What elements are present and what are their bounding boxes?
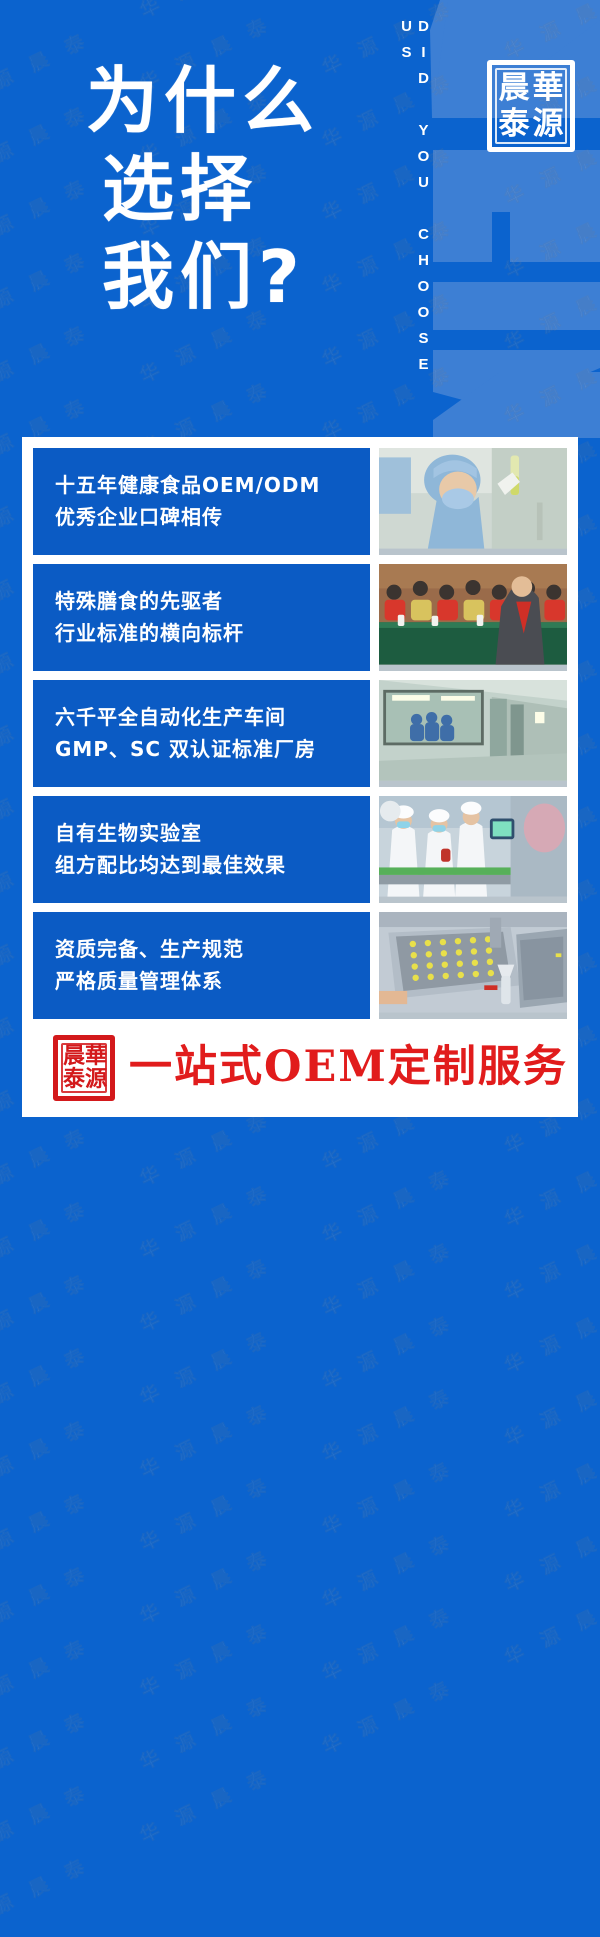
watermark-text: 华 源 晨 泰: [500, 1291, 600, 1379]
watermark-text: 华 源 晨 泰: [317, 1672, 459, 1760]
feature-line: 严格质量管理体系: [55, 969, 348, 994]
watermark-text: 华 源 晨 泰: [135, 1469, 277, 1557]
seal-char-yuan: 源: [533, 109, 564, 140]
watermark-row: 华 源 晨 泰华 源 晨 泰华 源 晨 泰华 源 晨 泰华 源 晨 泰: [0, 1142, 600, 1499]
watermark-text: 华 源 晨 泰: [500, 1364, 600, 1452]
watermark-text: 华 源 晨 泰: [317, 1526, 459, 1614]
vertical-english-text: DID YOU CHOOSE US: [398, 18, 432, 408]
watermark-text: 华 源 晨 泰: [0, 1557, 95, 1645]
feature-line: 六千平全自动化生产车间: [55, 705, 348, 730]
poster-header: 为什么 选择 我们? DID YOU CHOOSE US 晨 泰 華 源: [0, 0, 600, 438]
seal-right-column: 華 源: [531, 70, 565, 142]
feature-line: 自有生物实验室: [55, 821, 348, 846]
feature-card-text: 六千平全自动化生产车间 GMP、SC 双认证标准厂房: [33, 680, 370, 787]
watermark-text: 华 源 晨 泰: [0, 1265, 95, 1353]
feature-line: 十五年健康食品OEM/ODM: [55, 473, 348, 498]
brand-seal-logo: 晨 泰 華 源: [487, 60, 575, 152]
watermark-text: 华 源 晨 泰: [0, 1484, 95, 1572]
feature-photo-blister-packing-machine: [379, 912, 567, 1019]
watermark-text: 华 源 晨 泰: [0, 1849, 95, 1937]
seal-char-hua: 華: [533, 73, 564, 104]
feature-line: 优秀企业口碑相传: [55, 505, 348, 530]
watermark-text: 华 源 晨 泰: [0, 1338, 95, 1426]
seal-left-column: 晨 泰: [497, 70, 531, 142]
content-panel: 十五年健康食品OEM/ODM 优秀企业口碑相传: [22, 437, 578, 1117]
watermark-text: 华 源 晨 泰: [317, 1307, 459, 1395]
watermark-text: 华 源 晨 泰: [135, 1761, 277, 1849]
watermark-text: 华 源 晨 泰: [135, 1177, 277, 1265]
seal-char-hua: 華: [85, 1045, 107, 1067]
watermark-row: 华 源 晨 泰华 源 晨 泰华 源 晨 泰华 源 晨 泰华 源 晨 泰: [0, 1580, 600, 1937]
watermark-text: 华 源 晨 泰: [135, 1615, 277, 1703]
feature-line: 组方配比均达到最佳效果: [55, 853, 348, 878]
seal-char-tai: 泰: [499, 109, 530, 140]
footer-brand-seal: 晨 泰 華 源: [53, 1035, 115, 1101]
feature-line: 特殊膳食的先驱者: [55, 589, 348, 614]
feature-card: 自有生物实验室 组方配比均达到最佳效果: [33, 796, 567, 903]
page-title: 为什么 选择 我们?: [86, 58, 386, 321]
watermark-text: 华 源 晨 泰: [135, 1323, 277, 1411]
feature-line: GMP、SC 双认证标准厂房: [55, 737, 348, 762]
feature-card-text: 自有生物实验室 组方配比均达到最佳效果: [33, 796, 370, 903]
watermark-row: 华 源 晨 泰华 源 晨 泰华 源 晨 泰华 源 晨 泰华 源 晨 泰: [0, 1361, 600, 1718]
watermark-text: 华 源 晨 泰: [500, 1437, 600, 1525]
vertical-english-tagline: DID YOU CHOOSE US: [398, 18, 432, 408]
watermark-text: 华 源 晨 泰: [500, 1510, 600, 1598]
watermark-row: 华 源 晨 泰华 源 晨 泰华 源 晨 泰华 源 晨 泰华 源 晨 泰: [0, 1507, 600, 1864]
feature-line: 行业标准的横向标杆: [55, 621, 348, 646]
watermark-text: 华 源 晨 泰: [0, 1630, 95, 1718]
footer-slogan: 一站式OEM定制服务: [129, 1046, 568, 1089]
watermark-text: 华 源 晨 泰: [317, 1453, 459, 1541]
feature-card: 特殊膳食的先驱者 行业标准的横向标杆: [33, 564, 567, 671]
feature-card: 资质完备、生产规范 严格质量管理体系: [33, 912, 567, 1019]
watermark-text: 华 源 晨 泰: [135, 1542, 277, 1630]
title-line-3: 我们?: [102, 234, 386, 322]
watermark-row: 华 源 晨 泰华 源 晨 泰华 源 晨 泰华 源 晨 泰华 源 晨 泰: [0, 1215, 600, 1572]
watermark-text: 华 源 晨 泰: [0, 1411, 95, 1499]
watermark-row: 华 源 晨 泰华 源 晨 泰华 源 晨 泰华 源 晨 泰华 源 晨 泰: [0, 1434, 600, 1791]
watermark-text: 华 源 晨 泰: [0, 1192, 95, 1280]
seal-char-yuan: 源: [85, 1068, 107, 1090]
title-line-2: 选择: [102, 146, 386, 234]
watermark-text: 华 源 晨 泰: [317, 1161, 459, 1249]
watermark-text: 华 源 晨 泰: [0, 1776, 95, 1864]
feature-photo-conference-audience: [379, 564, 567, 671]
watermark-row: 华 源 晨 泰华 源 晨 泰华 源 晨 泰华 源 晨 泰华 源 晨 泰: [0, 1288, 600, 1645]
watermark-text: 华 源 晨 泰: [135, 1688, 277, 1776]
footer-banner: 晨 泰 華 源 一站式OEM定制服务: [33, 1029, 567, 1106]
seal-char-chen: 晨: [499, 73, 530, 104]
watermark-text: 华 源 晨 泰: [500, 1218, 600, 1306]
watermark-text: 华 源 晨 泰: [500, 1583, 600, 1671]
watermark-text: 华 源 晨 泰: [135, 1396, 277, 1484]
watermark-row: 华 源 晨 泰华 源 晨 泰华 源 晨 泰华 源 晨 泰华 源 晨 泰: [0, 1069, 600, 1426]
feature-photo-filling-line-workers: [379, 796, 567, 903]
watermark-text: 华 源 晨 泰: [0, 1703, 95, 1791]
feature-photo-cleanroom-corridor: [379, 680, 567, 787]
feature-card-text: 十五年健康食品OEM/ODM 优秀企业口碑相传: [33, 448, 370, 555]
watermark-text: 华 源 晨 泰: [500, 1145, 600, 1233]
footer-seal-left-column: 晨 泰: [63, 1045, 85, 1091]
title-line-1: 为什么: [86, 58, 386, 146]
feature-line: 资质完备、生产规范: [55, 937, 348, 962]
feature-photo-lab-technician: [379, 448, 567, 555]
watermark-text: 华 源 晨 泰: [135, 1250, 277, 1338]
feature-card: 十五年健康食品OEM/ODM 优秀企业口碑相传: [33, 448, 567, 555]
feature-card-list: 十五年健康食品OEM/ODM 优秀企业口碑相传: [33, 448, 567, 1019]
footer-seal-right-column: 華 源: [85, 1045, 107, 1091]
watermark-text: 华 源 晨 泰: [317, 1234, 459, 1322]
feature-card: 六千平全自动化生产车间 GMP、SC 双认证标准厂房: [33, 680, 567, 787]
watermark-text: 华 源 晨 泰: [317, 1599, 459, 1687]
watermark-text: 华 源 晨 泰: [0, 1119, 95, 1207]
feature-card-text: 特殊膳食的先驱者 行业标准的横向标杆: [33, 564, 370, 671]
feature-card-text: 资质完备、生产规范 严格质量管理体系: [33, 912, 370, 1019]
seal-char-tai: 泰: [63, 1068, 85, 1090]
seal-char-chen: 晨: [63, 1045, 85, 1067]
watermark-text: 华 源 晨 泰: [317, 1380, 459, 1468]
